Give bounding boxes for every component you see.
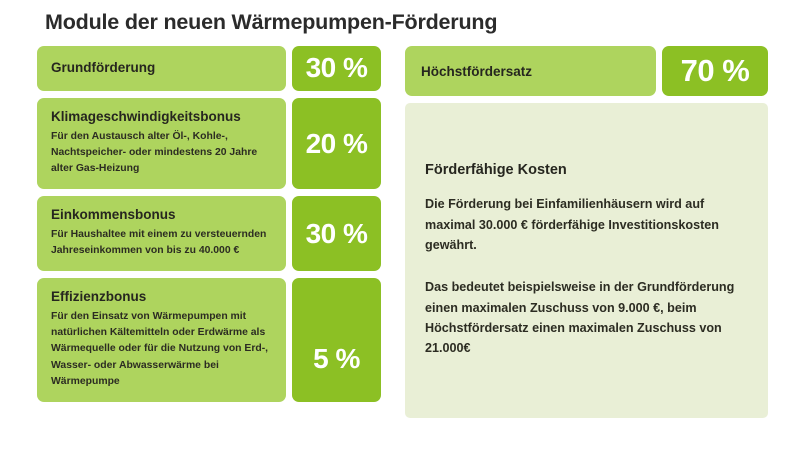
module-card-klimageschwindigkeitsbonus: Klimageschwindigkeitsbonus Für den Austa… [37,98,286,189]
module-percent-badge: 5 % [292,278,381,402]
max-rate-row: Höchstfördersatz 70 % [405,46,768,96]
module-percent-badge: 30 % [292,46,381,91]
info-panel-paragraph-2: Das bedeutet beispielsweise in der Grund… [425,277,748,359]
max-rate-card: Höchstfördersatz [405,46,656,96]
module-percent-badge: 30 % [292,196,381,271]
module-card-grundfoerderung: Grundförderung [37,46,286,91]
module-title: Einkommensbonus [51,207,272,224]
module-card-effizienzbonus: Effizienzbonus Für den Einsatz von Wärme… [37,278,286,402]
module-card-einkommensbonus: Einkommensbonus Für Haushaltee mit einem… [37,196,286,271]
max-rate-percent-badge: 70 % [662,46,768,96]
module-description: Für den Einsatz von Wärmepumpen mit natü… [51,309,272,390]
module-row: Grundförderung 30 % [37,46,382,91]
module-row: Einkommensbonus Für Haushaltee mit einem… [37,196,382,271]
info-panel: Förderfähige Kosten Die Förderung bei Ei… [405,103,768,418]
page-title: Module der neuen Wärmepumpen-Förderung [45,10,497,35]
info-panel-paragraph-1: Die Förderung bei Einfamilienhäusern wir… [425,194,748,255]
max-rate-label: Höchstfördersatz [421,64,532,79]
module-description: Für Haushaltee mit einem zu versteuernde… [51,227,272,259]
infographic-root: Module der neuen Wärmepumpen-Förderung G… [0,0,800,458]
module-row: Klimageschwindigkeitsbonus Für den Austa… [37,98,382,189]
module-title: Effizienzbonus [51,289,272,306]
modules-column: Grundförderung 30 % Klimageschwindigkeit… [37,46,382,409]
module-row: Effizienzbonus Für den Einsatz von Wärme… [37,278,382,402]
module-description: Für den Austausch alter Öl-, Kohle-, Nac… [51,129,272,177]
module-percent-badge: 20 % [292,98,381,189]
module-title: Klimageschwindigkeitsbonus [51,109,272,126]
module-title: Grundförderung [51,60,272,77]
info-panel-heading: Förderfähige Kosten [425,162,748,178]
